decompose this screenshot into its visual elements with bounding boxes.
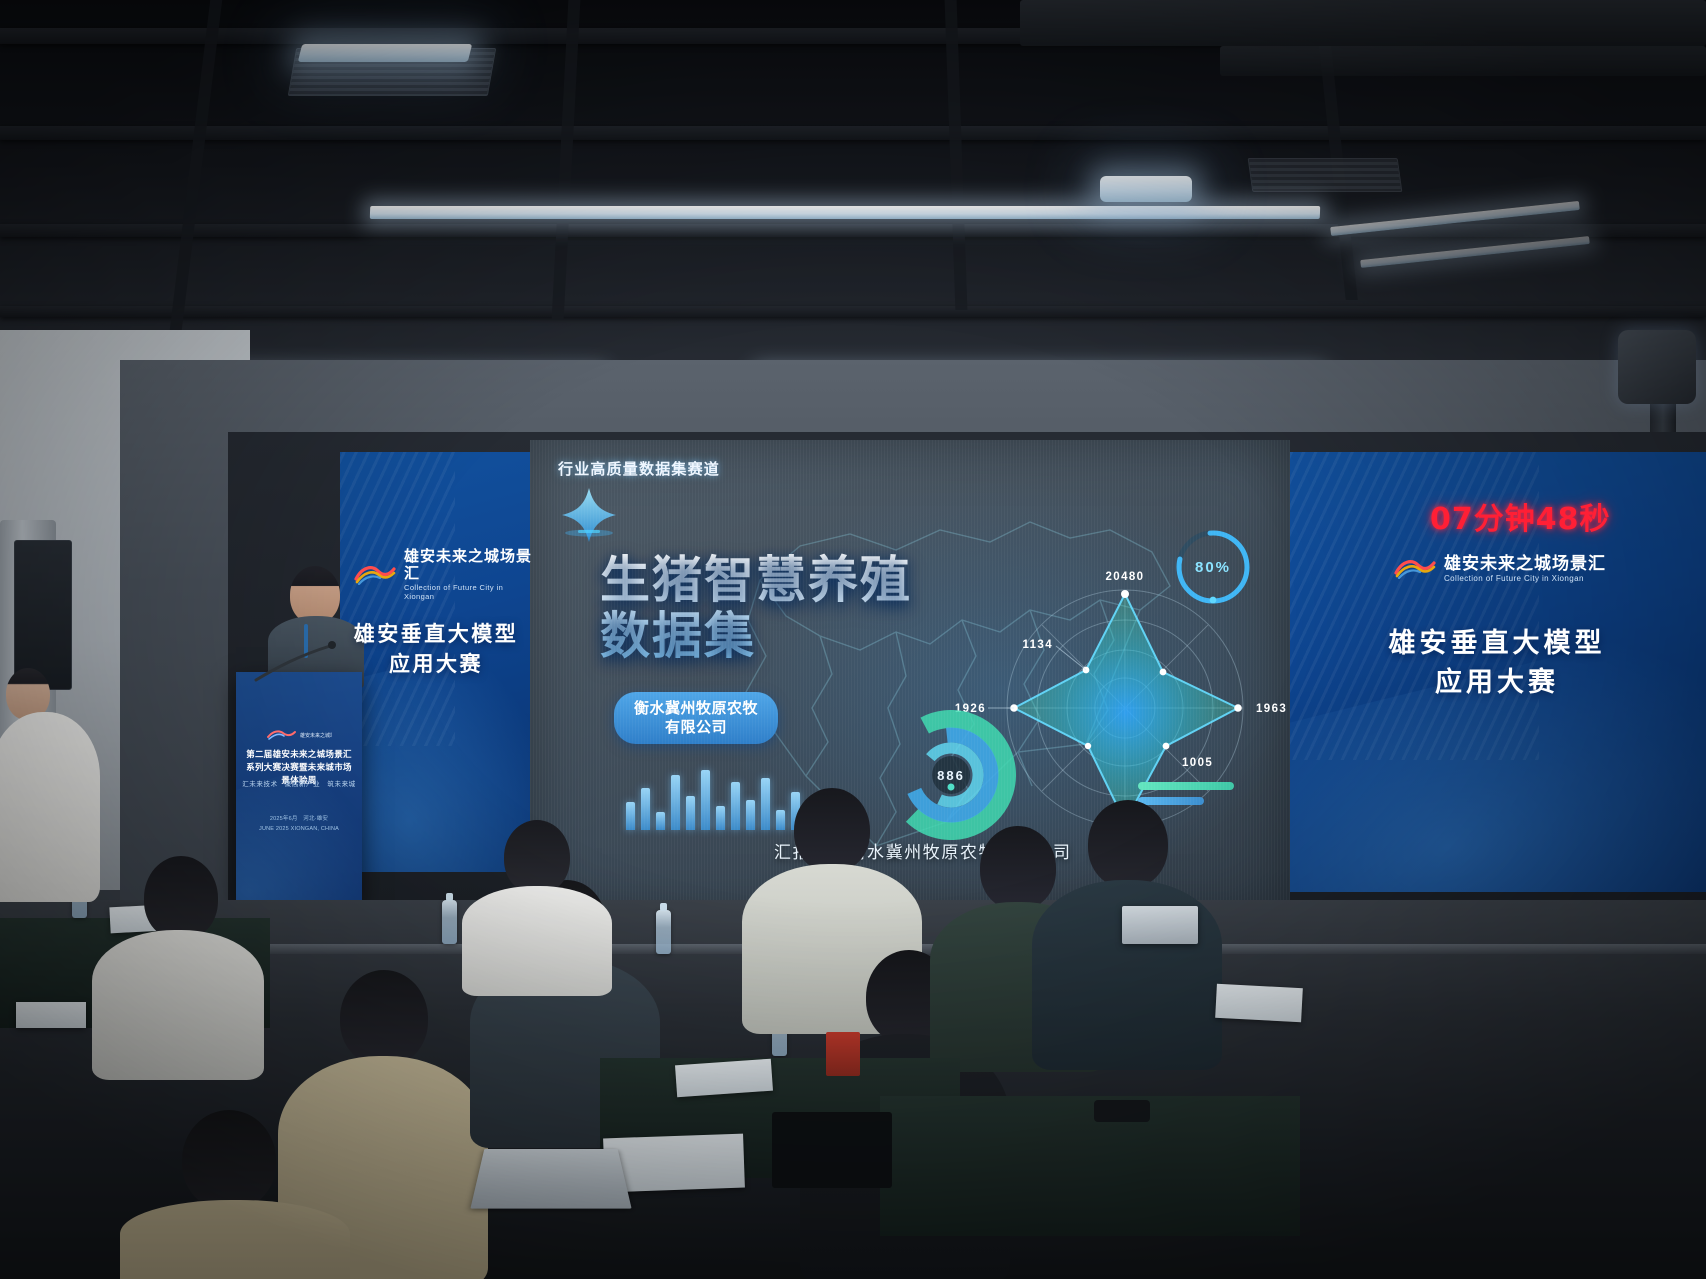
podium-logo-icon: 雄安未来之城场景汇: [266, 728, 332, 742]
banner-logo: 雄安未来之城场景汇 Collection of Future City in X…: [354, 548, 532, 601]
attendee: [0, 668, 100, 898]
radar-label-1963: 1963: [1256, 703, 1287, 715]
ceiling-duct: [1220, 46, 1706, 76]
ceiling-light: [298, 44, 472, 62]
radar-label-1005: 1005: [1182, 757, 1213, 769]
podium-date-cn: 2025年6月 河北·雄安: [270, 816, 328, 822]
xiongan-logo-icon: [354, 563, 396, 585]
banner-heading: 雄安垂直大模型 应用大赛: [340, 620, 532, 681]
banner-heading-line2: 应用大赛: [389, 653, 483, 676]
audience-body: [120, 1200, 350, 1279]
radar-label-20480: 20480: [1106, 571, 1145, 583]
banner-logo-subtitle: Collection of Future City in Xiongan: [404, 583, 532, 601]
audience-head: [182, 1110, 276, 1210]
audience-body: [92, 930, 264, 1080]
ceiling-rib: [552, 0, 581, 320]
banner-logo-subtitle: Collection of Future City in Xiongan: [1444, 574, 1606, 583]
banner-logo: 雄安未来之城场景汇 Collection of Future City in X…: [1394, 554, 1606, 583]
ceiling-rib: [945, 0, 968, 310]
led-title-line1: 生猪智慧养殖: [600, 551, 912, 609]
audience-head: [794, 788, 870, 872]
audience-head: [504, 820, 570, 894]
progress-ring: 80%: [1170, 524, 1256, 610]
name-card: [16, 1002, 86, 1028]
ceiling-light: [370, 206, 1320, 219]
audience-member: [462, 820, 612, 980]
audience-head: [1088, 800, 1168, 888]
legend-bar-1: [1138, 782, 1234, 790]
ceiling-light: [1360, 236, 1590, 268]
ceiling-beam: [0, 126, 1706, 140]
document-sheet: [675, 1059, 773, 1098]
ceiling-beam: [0, 224, 1706, 237]
phone: [1094, 1100, 1150, 1122]
audience-member: [92, 856, 264, 1056]
banner-logo-title: 雄安未来之城场景汇: [1444, 554, 1606, 574]
banner-heading-line1: 雄安垂直大模型: [1389, 628, 1606, 658]
banner-heading-line2: 应用大赛: [1435, 667, 1559, 697]
ceiling-rib: [170, 0, 223, 330]
audience-member: [120, 1110, 350, 1279]
microphone-icon: [250, 640, 340, 684]
banner-heading-line1: 雄安垂直大模型: [354, 623, 519, 646]
company-name-line2: 有限公司: [665, 719, 727, 736]
audience-body: [462, 886, 612, 996]
laptop: [470, 1149, 631, 1209]
ceiling-duct: [1020, 0, 1706, 46]
banner-logo-title: 雄安未来之城场景汇: [404, 548, 532, 583]
podium-date: 2025年6月 河北·雄安 JUNE 2025 XIONGAN, CHINA: [242, 814, 356, 835]
podium-date-en: JUNE 2025 XIONGAN, CHINA: [259, 826, 339, 832]
banner-heading: 雄安垂直大模型 应用大赛: [1288, 624, 1706, 702]
track-label: 行业高质量数据集赛道: [558, 458, 720, 479]
audience-head: [340, 970, 428, 1066]
countdown-timer: 07分钟48秒: [1430, 494, 1611, 538]
red-box: [826, 1032, 860, 1076]
ceiling-beam: [0, 306, 1706, 317]
ceiling-vent: [1248, 158, 1403, 192]
banner-left: 雄安未来之城场景汇 Collection of Future City in X…: [340, 452, 532, 872]
table-cloth: [880, 1096, 1300, 1236]
stage-spotlight: [1618, 330, 1696, 404]
diamond-icon: [560, 486, 618, 544]
company-name-badge: 衡水冀州牧原农牧 有限公司: [614, 692, 778, 744]
radar-label-1134: 1134: [1022, 639, 1053, 651]
document-sheet: [1215, 984, 1303, 1022]
conference-scene: 雄安未来之城场景汇 Collection of Future City in X…: [0, 0, 1706, 1279]
water-bottle: [442, 900, 457, 944]
xiongan-logo-icon: [1394, 557, 1436, 579]
laptop: [1122, 906, 1198, 944]
ceiling-light: [1100, 176, 1192, 202]
attendee-body: [0, 712, 100, 902]
podium-tagline: 汇未来技术 聚高新产业 筑未来城: [242, 778, 356, 788]
ceiling: [0, 0, 1706, 400]
podium-title-line1: 第二届雄安未来之城场景汇: [246, 749, 352, 759]
progress-ring-value: 80%: [1170, 524, 1256, 610]
audience-head: [144, 856, 218, 940]
company-name-line1: 衡水冀州牧原农牧: [634, 700, 758, 717]
laptop-screen-back: [772, 1112, 892, 1188]
svg-text:雄安未来之城场景汇: 雄安未来之城场景汇: [300, 732, 332, 739]
